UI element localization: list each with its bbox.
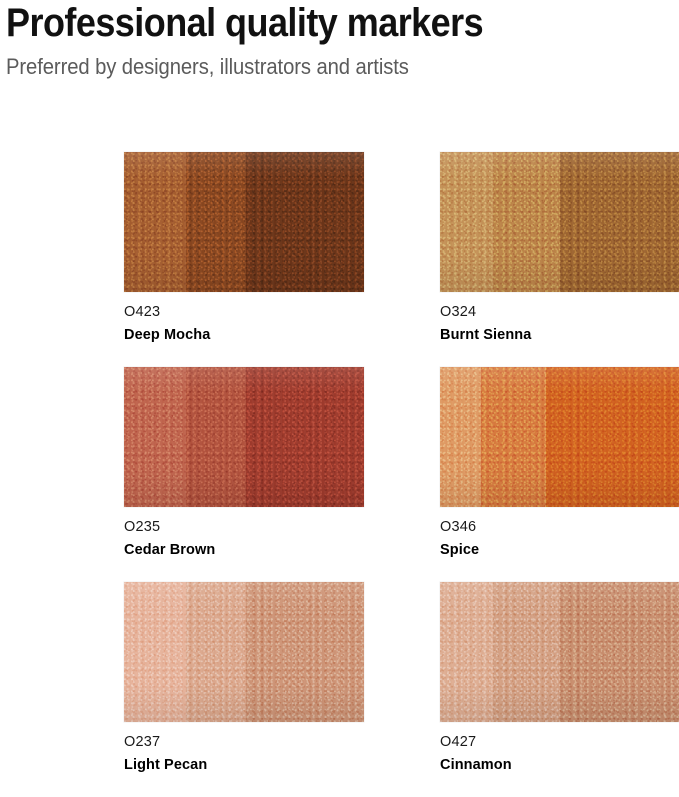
swatch-band-mid (186, 367, 246, 507)
swatch-name: Light Pecan (124, 752, 364, 775)
swatch-code: O427 (440, 733, 679, 752)
swatch-band-light (124, 367, 186, 507)
swatch-name: Spice (440, 537, 679, 560)
color-swatch[interactable] (124, 152, 364, 292)
swatch-band-dark (560, 152, 679, 292)
swatch-code: O237 (124, 733, 364, 752)
page-subtitle: Preferred by designers, illustrators and… (6, 46, 621, 80)
marker-swatch-grid: O423 Deep Mocha O324 Burnt Sienna (0, 152, 679, 797)
swatch-band-mid (481, 367, 546, 507)
swatch-band-dark (246, 582, 364, 722)
swatch-card-o427[interactable]: O427 Cinnamon (440, 582, 679, 797)
swatch-meta: O324 Burnt Sienna (440, 292, 679, 345)
swatch-band-light (440, 367, 481, 507)
grid-left-gutter (0, 582, 124, 797)
swatch-name: Cinnamon (440, 752, 679, 775)
swatch-code: O346 (440, 518, 679, 537)
swatch-band-light (124, 152, 186, 292)
swatch-code: O324 (440, 303, 679, 322)
color-swatch[interactable] (124, 367, 364, 507)
swatch-name: Burnt Sienna (440, 322, 679, 345)
swatch-band-mid (186, 582, 246, 722)
swatch-band-mid (493, 152, 560, 292)
swatch-name: Cedar Brown (124, 537, 364, 560)
swatch-meta: O427 Cinnamon (440, 722, 679, 775)
swatch-card-o423[interactable]: O423 Deep Mocha (124, 152, 364, 367)
swatch-meta: O235 Cedar Brown (124, 507, 364, 560)
grid-column-gutter (364, 152, 440, 367)
grid-left-gutter (0, 367, 124, 582)
swatch-band-light (440, 152, 493, 292)
swatch-meta: O423 Deep Mocha (124, 292, 364, 345)
swatch-band-dark (246, 152, 364, 292)
swatch-meta: O237 Light Pecan (124, 722, 364, 775)
swatch-band-dark (546, 367, 679, 507)
swatch-band-dark (560, 582, 679, 722)
grid-left-gutter (0, 152, 124, 367)
swatch-band-dark (246, 367, 364, 507)
color-swatch[interactable] (440, 152, 679, 292)
swatch-name: Deep Mocha (124, 322, 364, 345)
color-swatch[interactable] (440, 367, 679, 507)
swatch-card-o346[interactable]: O346 Spice (440, 367, 679, 582)
swatch-card-o324[interactable]: O324 Burnt Sienna (440, 152, 679, 367)
swatch-code: O235 (124, 518, 364, 537)
swatch-card-o235[interactable]: O235 Cedar Brown (124, 367, 364, 582)
swatch-meta: O346 Spice (440, 507, 679, 560)
page-title: Professional quality markers (6, 0, 607, 46)
swatch-band-mid (186, 152, 246, 292)
swatch-code: O423 (124, 303, 364, 322)
grid-column-gutter (364, 582, 440, 797)
grid-column-gutter (364, 367, 440, 582)
swatch-band-light (124, 582, 186, 722)
swatch-band-light (440, 582, 493, 722)
swatch-band-mid (493, 582, 560, 722)
color-swatch[interactable] (440, 582, 679, 722)
swatch-card-o237[interactable]: O237 Light Pecan (124, 582, 364, 797)
color-swatch[interactable] (124, 582, 364, 722)
page-header: Professional quality markers Preferred b… (6, 0, 674, 80)
